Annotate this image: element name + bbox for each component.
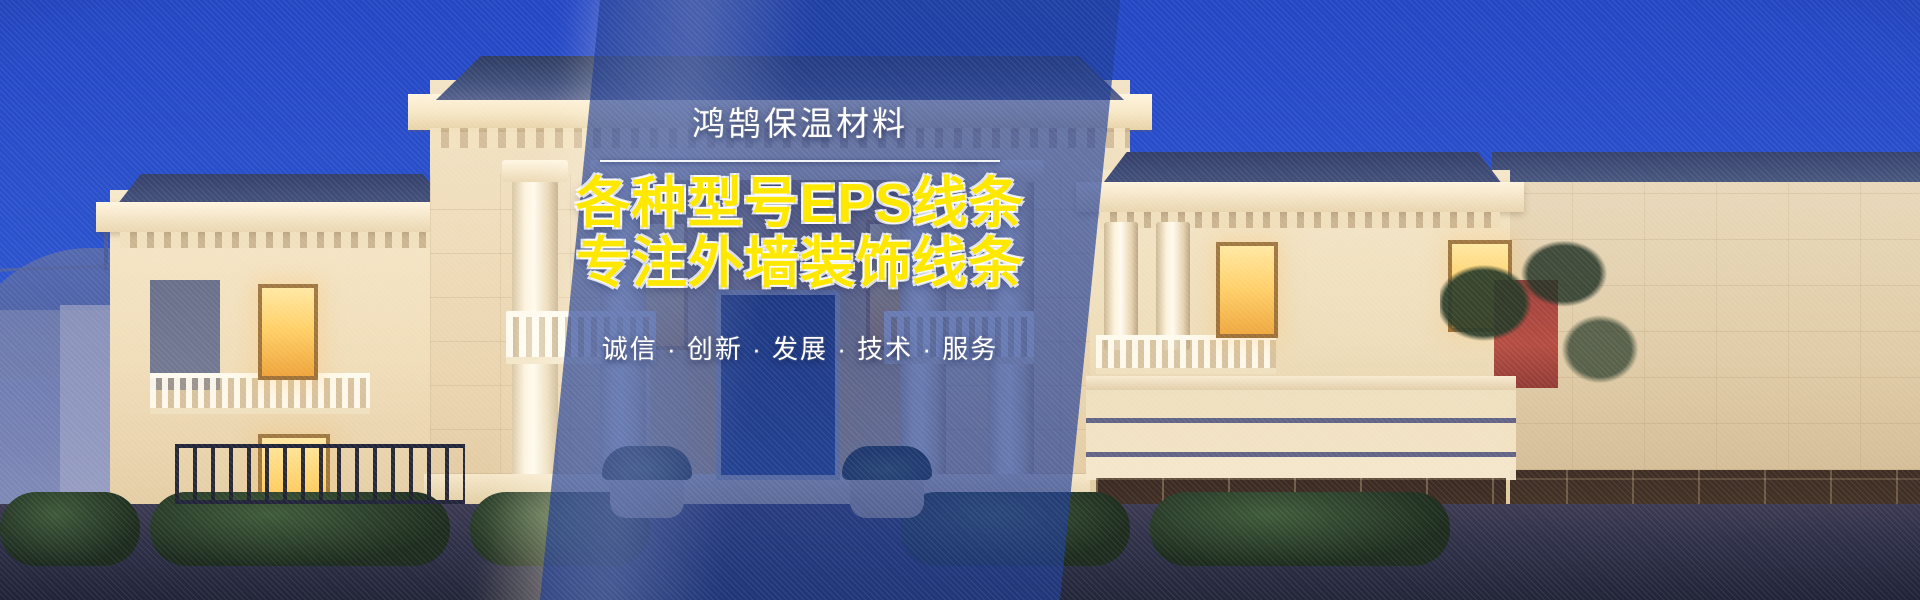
- right-wing-column: [1104, 222, 1138, 350]
- central-roof: [406, 56, 1154, 100]
- brand-name: 鸿鹄保温材料: [560, 104, 1040, 144]
- right-wing-cornice: [1076, 182, 1524, 212]
- headline-line-2: 专注外墙装饰线条: [560, 234, 1040, 293]
- left-wing-cornice: [96, 202, 464, 232]
- tree-foliage: [1440, 240, 1640, 450]
- divider-rule: [600, 160, 1000, 162]
- planter: [610, 470, 684, 518]
- hedge: [0, 492, 140, 566]
- hedge: [900, 492, 1130, 566]
- hedge: [1150, 492, 1450, 566]
- headline-line-1: 各种型号EPS线条: [560, 174, 1040, 233]
- right-wing-column: [1156, 222, 1190, 350]
- right-wing-balustrade: [1096, 335, 1276, 374]
- planter: [850, 470, 924, 518]
- iron-railing: [175, 444, 465, 504]
- tagline: 诚信 · 创新 · 发展 · 技术 · 服务: [560, 329, 1040, 366]
- lit-window: [1216, 242, 1278, 338]
- banner-text-block: 鸿鹄保温材料 各种型号EPS线条 专注外墙装饰线条 诚信 · 创新 · 发展 ·…: [560, 104, 1040, 366]
- right-far-roof: [1492, 152, 1920, 182]
- lit-window: [258, 284, 318, 380]
- left-wing-dentils: [120, 232, 440, 248]
- hero-banner: 鸿鹄保温材料 各种型号EPS线条 专注外墙装饰线条 诚信 · 创新 · 发展 ·…: [0, 0, 1920, 600]
